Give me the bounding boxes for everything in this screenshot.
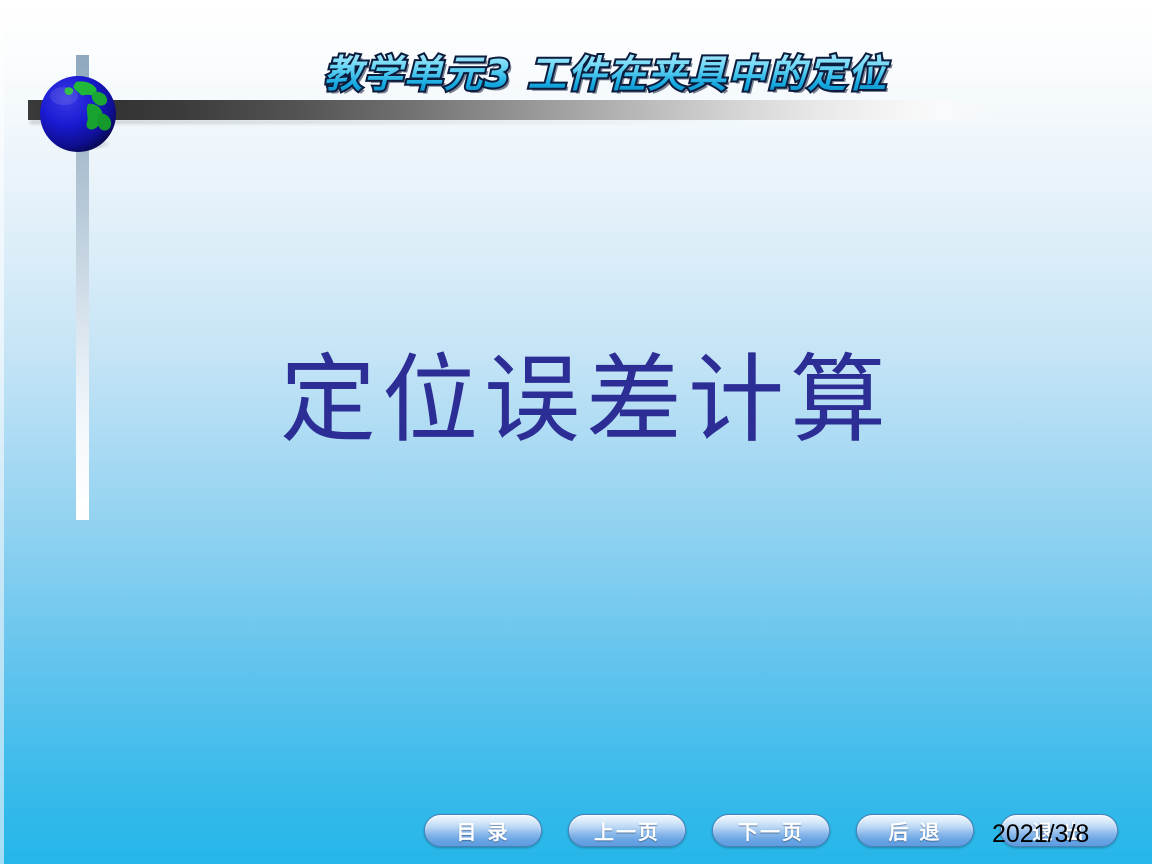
nav-button-next-page[interactable]: 下一页 [712, 814, 830, 847]
page-title: 定位误差计算 [0, 340, 1152, 460]
nav-button-label: 上一页 [594, 816, 660, 845]
nav-button-contents[interactable]: 目 录 [424, 814, 542, 847]
header-title: 教学单元3 工件在夹具中的定位 [0, 48, 1152, 100]
presentation-slide: 教学单元3 工件在夹具中的定位 教学单元3 工件在夹具中的定位 定位误差计算 目… [0, 0, 1152, 864]
slide-date: 2021/3/8 [992, 820, 1089, 849]
nav-button-label: 后 退 [889, 816, 942, 845]
nav-button-back[interactable]: 后 退 [856, 814, 974, 847]
nav-button-label: 下一页 [738, 816, 804, 845]
horizontal-accent-bar-shadow [30, 120, 930, 124]
nav-button-previous-page[interactable]: 上一页 [568, 814, 686, 847]
horizontal-accent-bar [28, 100, 1003, 120]
nav-button-label: 目 录 [457, 816, 510, 845]
